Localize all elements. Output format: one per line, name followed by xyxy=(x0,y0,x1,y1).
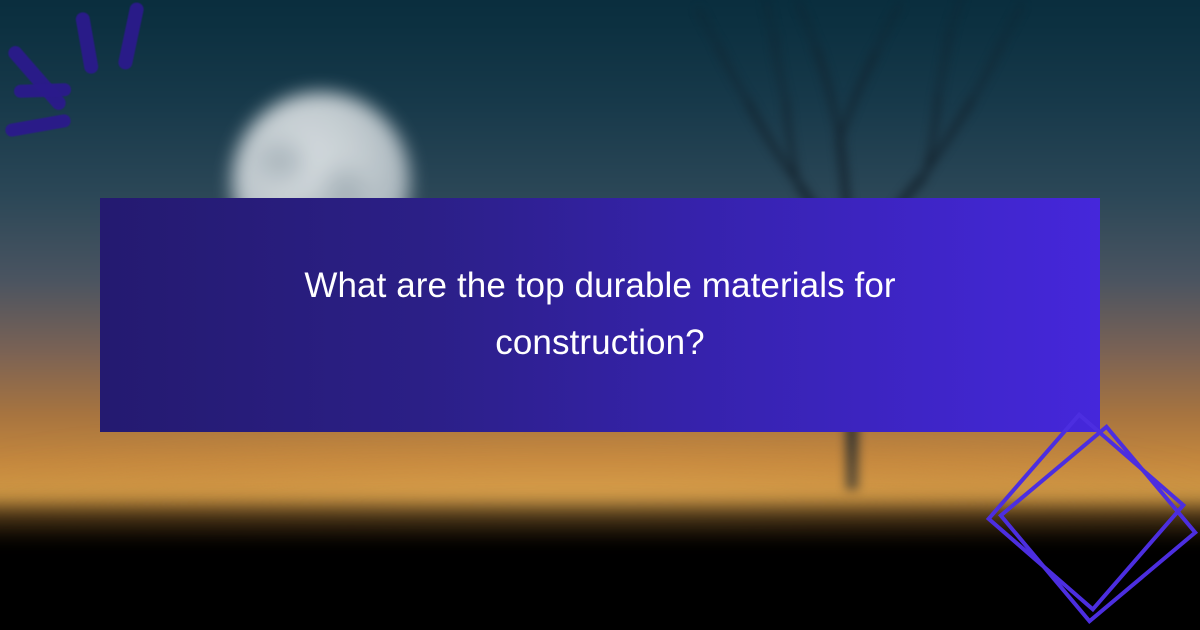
sparkle-burst-decoration xyxy=(0,0,180,170)
burst-ray-icon xyxy=(14,83,71,98)
og-image-card: What are the top durable materials for c… xyxy=(0,0,1200,630)
burst-ray-icon xyxy=(117,1,145,70)
overlapping-squares-decoration xyxy=(985,415,1200,630)
moon-crater xyxy=(260,144,304,178)
burst-ray-icon xyxy=(75,11,100,74)
question-banner: What are the top durable materials for c… xyxy=(100,198,1100,432)
burst-ray-icon xyxy=(5,43,68,113)
page-title: What are the top durable materials for c… xyxy=(260,258,940,371)
burst-ray-icon xyxy=(4,113,71,137)
